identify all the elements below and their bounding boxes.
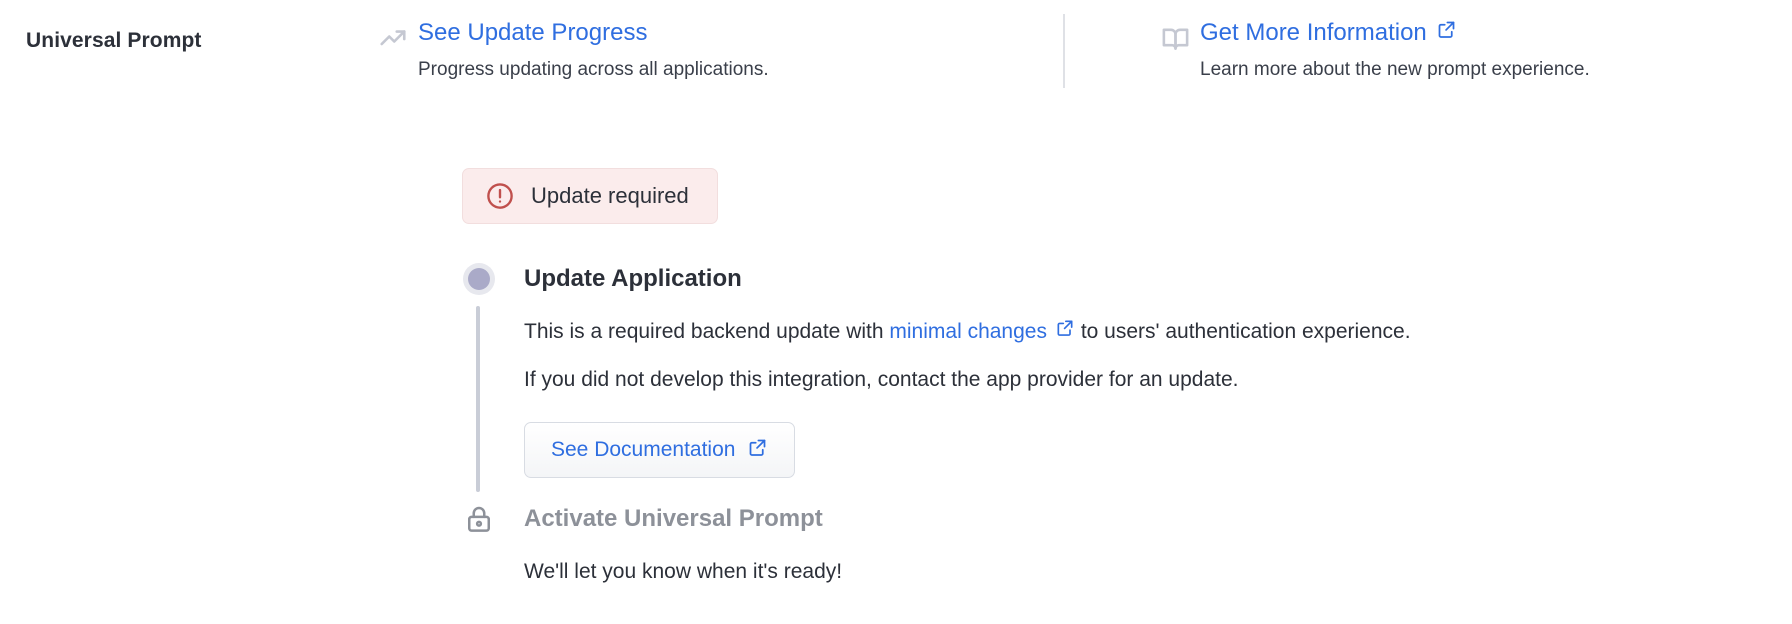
minimal-changes-label: minimal changes [889, 316, 1047, 348]
step-connector-line [476, 306, 480, 492]
step-activate-description: We'll let you know when it's ready! [524, 556, 1762, 588]
see-update-progress-label: See Update Progress [418, 18, 647, 48]
update-steps-list: Update Application This is a required ba… [462, 262, 1762, 612]
status-badge-label: Update required [531, 183, 689, 209]
external-link-icon [747, 437, 768, 464]
get-more-information-label: Get More Information [1200, 18, 1427, 48]
step-update-application: Update Application This is a required ba… [462, 262, 1762, 502]
universal-prompt-panel: Universal Prompt See Update Progress Pro… [0, 0, 1792, 624]
more-information-text: Get More Information Learn more about th… [1200, 18, 1590, 82]
more-information-description: Learn more about the new prompt experien… [1200, 57, 1590, 82]
step-update-application-body: Update Application This is a required ba… [524, 262, 1762, 502]
trending-up-icon [378, 18, 418, 54]
step-description-line-1: This is a required backend update with m… [524, 316, 1762, 348]
alert-circle-icon [485, 181, 515, 211]
panel-header: Universal Prompt See Update Progress Pro… [0, 0, 1792, 120]
book-icon [1160, 18, 1200, 55]
status-badge[interactable]: Update required [462, 168, 718, 224]
see-update-progress-link[interactable]: See Update Progress [418, 18, 769, 48]
external-link-icon [1436, 18, 1457, 48]
step-description-prefix: This is a required backend update with [524, 320, 884, 343]
update-progress-description: Progress updating across all application… [418, 57, 769, 82]
see-documentation-label: See Documentation [551, 438, 735, 462]
step-title-update-application: Update Application [524, 262, 1762, 296]
step-marker-locked [462, 502, 496, 536]
step-activate-universal-prompt: Activate Universal Prompt We'll let you … [462, 502, 1762, 612]
filled-dot-marker [463, 263, 495, 295]
marker-inner-dot [468, 268, 490, 290]
step-description-line-2: If you did not develop this integration,… [524, 364, 1762, 396]
lock-icon [462, 502, 496, 536]
see-documentation-button[interactable]: See Documentation [524, 422, 795, 478]
step-description-suffix: to users' authentication experience. [1081, 320, 1411, 343]
step-marker-active [462, 262, 496, 296]
more-information-block: Get More Information Learn more about th… [1160, 18, 1590, 82]
header-divider [1063, 14, 1065, 88]
update-progress-text: See Update Progress Progress updating ac… [418, 18, 769, 82]
external-link-icon [1055, 316, 1075, 348]
page-title: Universal Prompt [26, 29, 202, 53]
get-more-information-link[interactable]: Get More Information [1200, 18, 1590, 48]
update-progress-block: See Update Progress Progress updating ac… [378, 18, 769, 82]
step-activate-body: Activate Universal Prompt We'll let you … [524, 502, 1762, 612]
minimal-changes-link[interactable]: minimal changes [889, 316, 1075, 348]
step-title-activate-universal-prompt: Activate Universal Prompt [524, 502, 1762, 536]
